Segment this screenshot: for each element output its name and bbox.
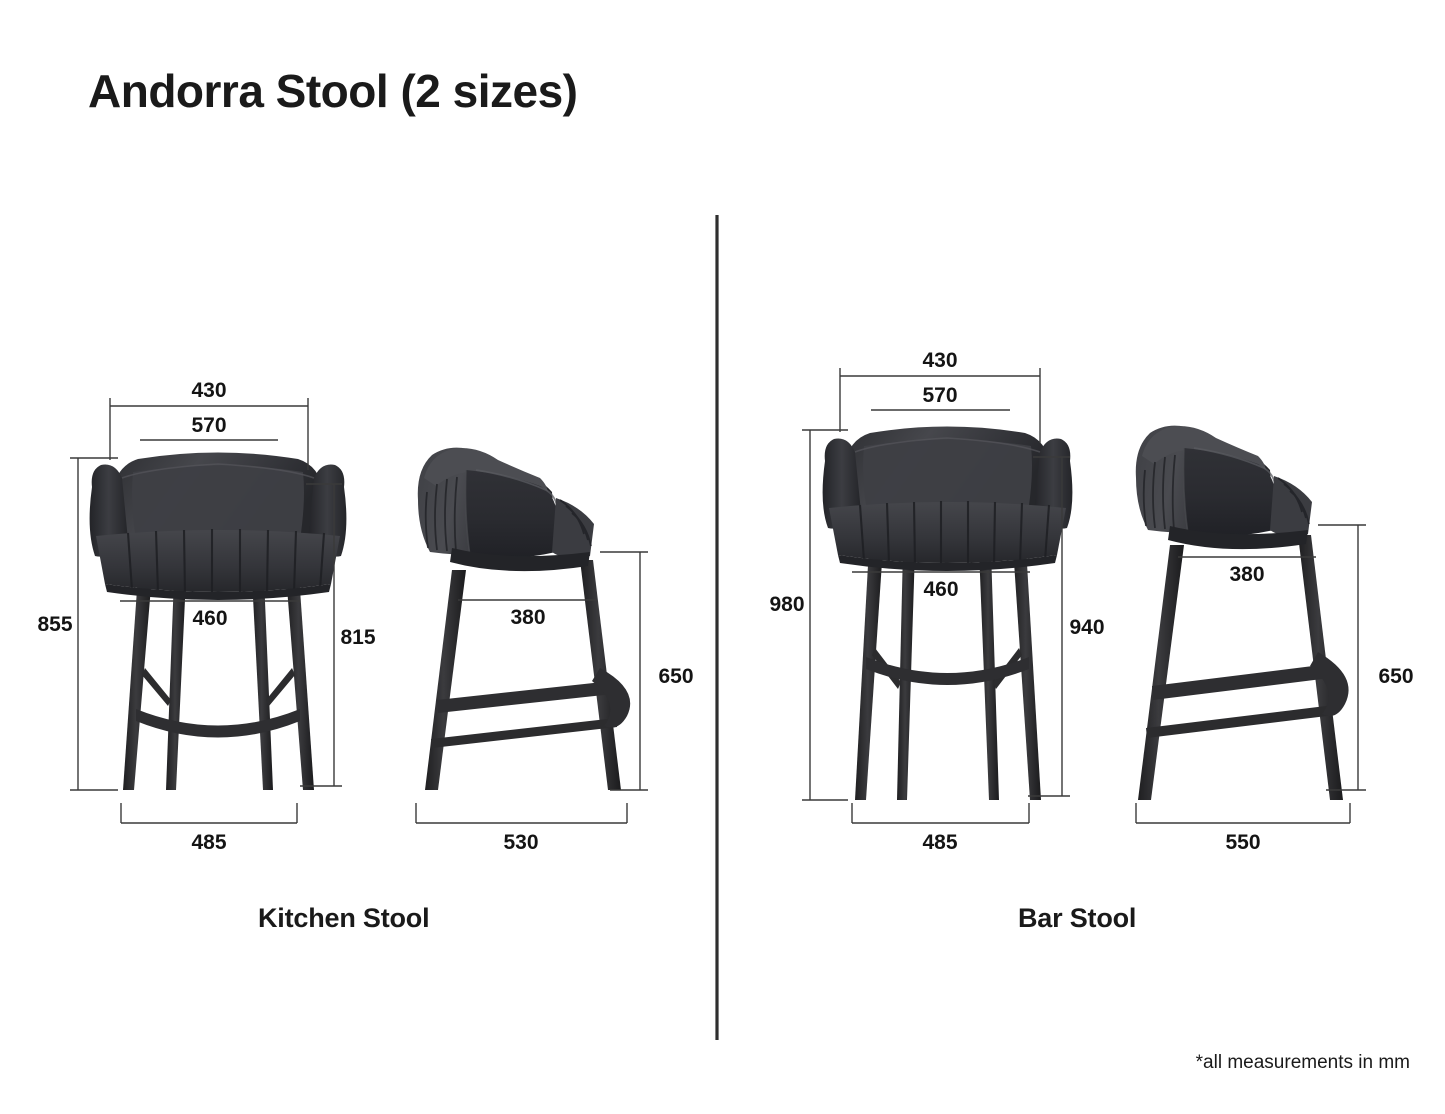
dim-bar-base-width: 485 xyxy=(922,831,957,854)
kitchen-stool-front-view: 430 570 855 815 460 485 xyxy=(37,379,375,854)
dim-kitchen-base-depth: 530 xyxy=(503,831,538,854)
dim-kitchen-arm-height: 815 xyxy=(340,626,375,649)
caption-bar-stool: Bar Stool xyxy=(1018,903,1136,934)
dim-bar-seat-height: 460 xyxy=(923,578,958,601)
caption-kitchen-stool: Kitchen Stool xyxy=(258,903,429,934)
dim-kitchen-base-width: 485 xyxy=(191,831,226,854)
bar-front-dimensions: 430 570 980 940 460 485 xyxy=(769,349,1104,854)
dim-kitchen-overall-width: 430 xyxy=(191,379,226,402)
dim-bar-seat-depth: 380 xyxy=(1229,563,1264,586)
dim-bar-overall-height: 980 xyxy=(769,593,804,616)
kitchen-side-legs xyxy=(425,560,630,790)
bar-side-upholstery xyxy=(1136,426,1312,549)
dim-kitchen-seat-depth: 380 xyxy=(510,606,545,629)
dim-bar-overall-width: 430 xyxy=(922,349,957,372)
measurement-units-note: *all measurements in mm xyxy=(1196,1052,1410,1074)
bar-stool-front-view: 430 570 980 940 460 485 xyxy=(769,349,1104,854)
dim-bar-base-depth: 550 xyxy=(1225,831,1260,854)
dimension-diagram-canvas: 430 570 855 815 460 485 xyxy=(0,0,1445,1114)
dim-kitchen-seat-height: 460 xyxy=(192,607,227,630)
dim-bar-arm-width: 570 xyxy=(922,384,957,407)
bar-stool-side-view: 380 650 550 xyxy=(1136,426,1414,854)
kitchen-front-upholstery xyxy=(90,453,347,601)
dim-kitchen-overall-height: 855 xyxy=(37,613,72,636)
kitchen-front-dimensions: 430 570 855 815 460 485 xyxy=(37,379,375,854)
dim-bar-arm-height: 940 xyxy=(1069,616,1104,639)
dim-kitchen-back-height: 650 xyxy=(658,665,693,688)
bar-front-upholstery xyxy=(823,427,1073,572)
dim-bar-back-height: 650 xyxy=(1378,665,1413,688)
kitchen-stool-side-view: 380 650 530 xyxy=(416,448,694,854)
dim-kitchen-arm-width: 570 xyxy=(191,414,226,437)
kitchen-side-upholstery xyxy=(418,448,594,571)
